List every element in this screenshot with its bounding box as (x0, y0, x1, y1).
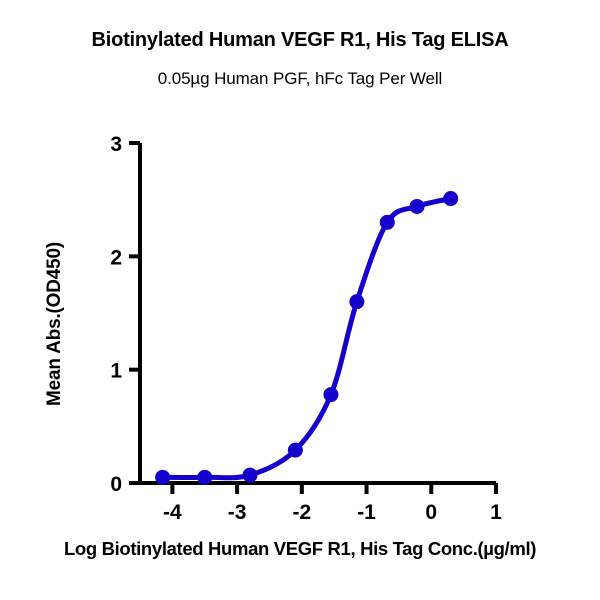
x-tick-label: -4 (163, 501, 182, 524)
y-tick-label: 1 (110, 360, 122, 383)
data-point (197, 470, 212, 485)
y-tick-label: 0 (110, 473, 122, 496)
x-tick-label: -2 (292, 501, 311, 524)
data-point (443, 191, 458, 206)
data-point (288, 443, 303, 458)
sigmoid-fit-curve (163, 199, 451, 478)
y-tick-label: 2 (110, 246, 122, 269)
axis-spines (138, 143, 496, 483)
data-point (380, 215, 395, 230)
data-point (349, 294, 364, 309)
x-tick-label: -3 (228, 501, 247, 524)
x-tick-label: 0 (425, 501, 437, 524)
data-point (410, 199, 425, 214)
plot-area: 0123 -4-3-2-101 (0, 0, 600, 600)
x-tick-label: 1 (490, 501, 502, 524)
data-point (243, 468, 258, 483)
x-tick-label: -1 (357, 501, 376, 524)
x-tick-labels: -4-3-2-101 (163, 501, 502, 524)
y-tick-labels: 0123 (110, 133, 122, 496)
y-tick-label: 3 (110, 133, 122, 156)
data-point (155, 470, 170, 485)
data-point (323, 387, 338, 402)
elisa-chart-figure: Biotinylated Human VEGF R1, His Tag ELIS… (0, 0, 600, 600)
